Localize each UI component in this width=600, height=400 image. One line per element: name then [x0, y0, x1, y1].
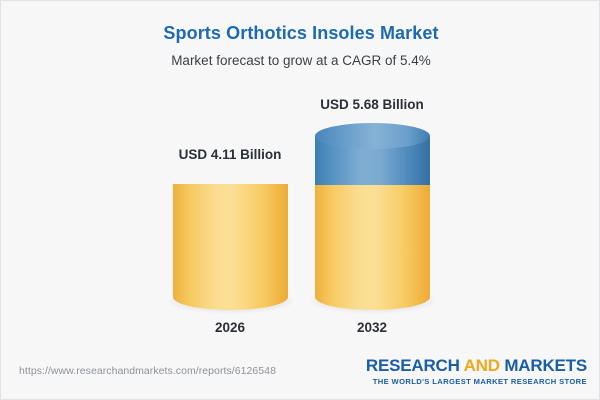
logo-word-and: AND: [460, 356, 505, 375]
bar-value-label-2032: USD 5.68 Billion: [262, 97, 482, 112]
research-and-markets-logo[interactable]: RESEARCH AND MARKETS THE WORLD'S LARGEST…: [366, 357, 587, 386]
bar-2026-segment-base: [173, 184, 288, 297]
logo-tagline: THE WORLD'S LARGEST MARKET RESEARCH STOR…: [366, 377, 587, 386]
source-url[interactable]: https://www.researchandmarkets.com/repor…: [19, 365, 276, 377]
logo-word-markets: MARKETS: [504, 356, 587, 375]
bar-cylinder-2026[interactable]: [173, 171, 288, 303]
logo-wordmark: RESEARCH AND MARKETS: [366, 357, 587, 375]
bar-category-label-2032: 2032: [262, 320, 482, 335]
plot-area: USD 4.11 Billion 2026 USD 5.68 Billion 2…: [1, 1, 600, 351]
chart-canvas: Sports Orthotics Insoles Market Market f…: [0, 0, 600, 400]
bar-cylinder-2032[interactable]: [315, 123, 430, 303]
logo-word-research: RESEARCH: [366, 356, 460, 375]
bar-value-label-2026: USD 4.11 Billion: [120, 147, 340, 162]
footer: https://www.researchandmarkets.com/repor…: [1, 349, 600, 399]
bar-2032-top-ellipse: [315, 123, 430, 149]
bar-2032-segment-base: [315, 185, 430, 297]
bar-2026-top-ellipse: [173, 171, 288, 197]
